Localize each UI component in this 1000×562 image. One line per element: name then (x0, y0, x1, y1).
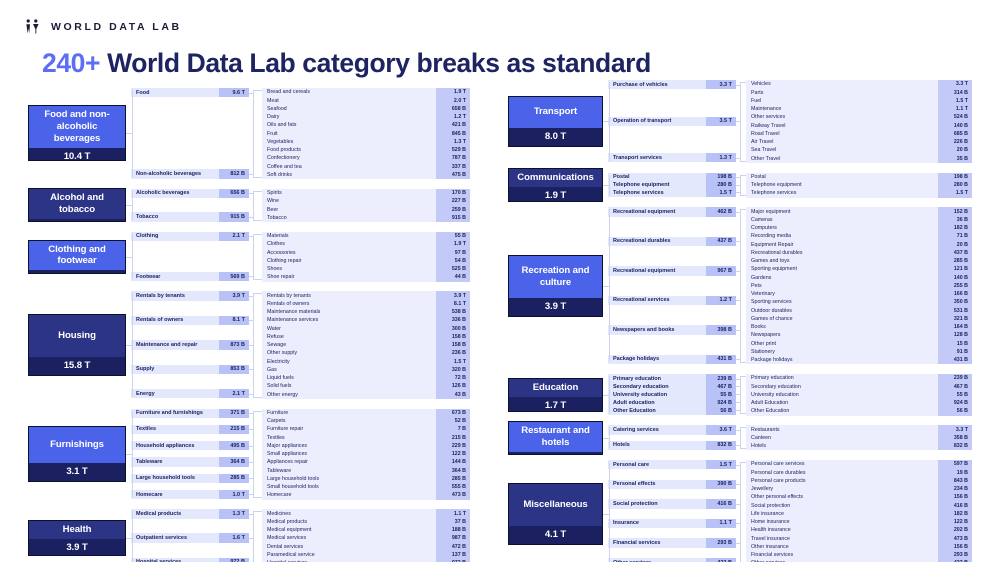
connector-line (740, 462, 746, 463)
connector-line (609, 82, 610, 161)
subcategory-value: 832 B (706, 441, 736, 450)
subcategory-label: Other services (608, 558, 706, 562)
subcategory-value: 873 B (219, 340, 249, 349)
leaf-value: 56 B (938, 407, 972, 416)
connector-line (253, 220, 262, 221)
connector-line (253, 293, 254, 396)
connector-line (253, 279, 262, 280)
connector-line (253, 191, 262, 192)
connector-line (249, 514, 253, 515)
connector-line (132, 234, 133, 280)
connector-line (249, 446, 253, 447)
category-group-value: 1.6 T (29, 219, 125, 222)
category-group-box[interactable]: Restaurant and hotels4.4 T (508, 421, 603, 455)
connector-line (253, 90, 254, 177)
connector-line (249, 369, 253, 370)
subcategory-label: Personal care (608, 460, 706, 469)
leaf-category-row: Other energy43 B (262, 390, 470, 399)
subcategory-value: 2.1 T (219, 232, 249, 241)
subcategory-value: 437 B (706, 237, 736, 246)
subcategory-row: Tobacco915 B (131, 212, 249, 221)
category-group-value: 3.9 T (509, 298, 602, 316)
subcategory-value: 293 B (706, 538, 736, 547)
connector-line (249, 296, 253, 297)
category-group-box[interactable]: Housing15.8 T (28, 314, 126, 376)
category-group-box[interactable]: Furnishings3.1 T (28, 426, 126, 482)
subcategory-value: 915 B (219, 212, 249, 221)
connector-line (253, 411, 262, 412)
connector-line (253, 511, 254, 562)
connector-line (740, 427, 741, 448)
subcategory-row: Social protection416 B (608, 499, 736, 508)
category-group-name: Education (509, 379, 602, 397)
infographic-page: WORLD DATA LAB 240+ World Data Lab categ… (0, 0, 1000, 562)
subcategory-label: Social protection (608, 499, 706, 508)
leaf-value: 43 B (436, 390, 470, 399)
category-group-value: 15.8 T (29, 357, 125, 375)
category-group-value: 1.9 T (509, 187, 602, 202)
connector-line (736, 330, 740, 331)
connector-line (736, 410, 740, 411)
connector-line (132, 191, 133, 220)
subcategory-label: Transport services (608, 153, 706, 162)
subcategory-value: 422 B (706, 558, 736, 562)
category-group-name: Restaurant and hotels (509, 422, 602, 452)
category-group-name: Furnishings (29, 427, 125, 463)
subcategory-label: Recreational equipment (608, 207, 706, 216)
category-group-box[interactable]: Transport8.0 T (508, 96, 603, 147)
subcategory-row: Transport services1.3 T (608, 153, 736, 162)
connector-line (249, 93, 253, 94)
leaf-label: Package holidays (746, 356, 938, 365)
category-group-box[interactable]: Clothing and footwear2.7 T (28, 240, 126, 274)
subcategory-label: Recreational durables (608, 237, 706, 246)
leaf-label: Hotels (746, 442, 938, 451)
connector-line (736, 394, 740, 395)
subcategory-row: Outpatient services1.6 T (131, 533, 249, 542)
subcategory-label: Non-alcoholic beverages (131, 169, 219, 178)
connector-line (249, 345, 253, 346)
brand-bar: WORLD DATA LAB (24, 18, 182, 35)
connector-line (609, 209, 610, 362)
subcategory-value: 9.6 T (219, 88, 249, 97)
subcategory-value: 462 B (706, 207, 736, 216)
connector-line (249, 236, 253, 237)
category-group-name: Recreation and culture (509, 256, 602, 298)
leaf-label: Other energy (262, 390, 436, 399)
subcategory-value: 3.5 T (706, 117, 736, 126)
subcategory-row: Textiles215 B (131, 425, 249, 434)
subcategory-label: Medical products (131, 509, 219, 518)
connector-line (249, 276, 253, 277)
subcategory-value: 656 B (219, 189, 249, 198)
subcategory-label: Insurance (608, 519, 706, 528)
subcategory-row: Recreational services1.2 T (608, 296, 736, 305)
category-group-name: Communications (509, 169, 602, 187)
category-group-value: 3.9 T (29, 539, 125, 556)
category-group-value: 10.4 T (29, 148, 125, 161)
leaf-category-row: Tobacco915 B (262, 214, 470, 223)
leaf-value: 475 B (436, 171, 470, 180)
category-group-box[interactable]: Health3.9 T (28, 520, 126, 556)
category-group-name: Health (29, 521, 125, 539)
category-group-box[interactable]: Food and non-alcoholic beverages10.4 T (28, 105, 126, 161)
connector-line (132, 293, 133, 396)
connector-line (253, 293, 262, 294)
subcategory-value: 285 B (219, 474, 249, 483)
connector-line (736, 465, 740, 466)
subcategory-row: Recreational durables437 B (608, 237, 736, 246)
subcategory-value: 1.5 T (706, 188, 736, 197)
subcategory-value: 1.2 T (706, 296, 736, 305)
subcategory-value: 364 B (219, 457, 249, 466)
subcategory-value: 1.6 T (219, 533, 249, 542)
connector-line (736, 504, 740, 505)
subcategory-value: 3.6 T (706, 425, 736, 434)
connector-line (253, 411, 254, 498)
subcategory-value: 569 B (219, 272, 249, 281)
connector-line (736, 386, 740, 387)
subcategory-label: Textiles (131, 425, 219, 434)
leaf-category-row: Package holidays431 B (746, 356, 972, 365)
connector-line (253, 397, 262, 398)
subcategory-label: Food (131, 88, 219, 97)
subcategory-row: Recreational equipment967 B (608, 266, 736, 275)
subcategory-label: Homecare (131, 490, 219, 499)
connector-line (740, 195, 746, 196)
connector-line (609, 462, 610, 562)
subcategory-label: Footwear (131, 272, 219, 281)
connector-line (249, 394, 253, 395)
connector-line (740, 462, 741, 562)
connector-line (736, 271, 740, 272)
subcategory-row: Medical products1.3 T (131, 509, 249, 518)
connector-line (740, 209, 741, 362)
subcategory-label: Household appliances (131, 441, 219, 450)
category-group-box[interactable]: Education1.7 T (508, 378, 603, 412)
connector-line (740, 82, 741, 161)
subcategory-label: Maintenance and repair (131, 340, 219, 349)
connector-line (249, 478, 253, 479)
connector-line (736, 241, 740, 242)
connector-line (736, 85, 740, 86)
subcategory-row: Supply853 B (131, 365, 249, 374)
connector-line (740, 413, 746, 414)
category-group-value: 4.1 T (509, 526, 602, 544)
leaf-label: Other Education (746, 407, 938, 416)
connector-line (253, 234, 262, 235)
subcategory-row: Insurance1.1 T (608, 519, 736, 528)
leaf-category-row: Soft drinks475 B (262, 171, 470, 180)
connector-line (249, 462, 253, 463)
connector-line (249, 494, 253, 495)
connector-line (740, 82, 746, 83)
subcategory-label: Financial services (608, 538, 706, 547)
connector-line (249, 413, 253, 414)
connector-line (740, 448, 746, 449)
subcategory-value: 371 B (219, 409, 249, 418)
page-title: 240+ World Data Lab category breaks as s… (42, 48, 651, 79)
connector-line (249, 193, 253, 194)
connector-line (740, 362, 746, 363)
subcategory-label: Alcoholic beverages (131, 189, 219, 198)
connector-line (740, 209, 746, 210)
connector-line (740, 376, 746, 377)
leaf-category-row: Hotels832 B (746, 442, 972, 451)
connector-line (740, 376, 741, 413)
subcategory-row: Personal effects390 B (608, 480, 736, 489)
connector-line (736, 402, 740, 403)
connector-line (609, 175, 610, 196)
leaf-value: 832 B (938, 442, 972, 451)
subcategory-value: 972 B (219, 558, 249, 562)
leaf-value: 44 B (436, 273, 470, 282)
subcategory-value: 1.1 T (706, 519, 736, 528)
connector-line (736, 121, 740, 122)
connector-line (609, 376, 610, 413)
connector-line (740, 175, 746, 176)
category-group-value: 2.7 T (29, 270, 125, 273)
connector-line (736, 359, 740, 360)
subcategory-label: Energy (131, 389, 219, 398)
leaf-category-row: Shoe repair44 B (262, 273, 470, 282)
subcategory-value: 431 B (706, 355, 736, 364)
leaf-label: Tobacco (262, 214, 436, 223)
subcategory-label: Tobacco (131, 212, 219, 221)
category-group-name: Clothing and footwear (29, 241, 125, 271)
connector-line (253, 511, 262, 512)
subcategory-row: Personal care1.5 T (608, 460, 736, 469)
connector-line (740, 161, 746, 162)
connector-line (609, 427, 610, 448)
subcategory-row: Other Education56 B (608, 406, 736, 415)
subcategory-value: 390 B (706, 480, 736, 489)
subcategory-label: Tableware (131, 457, 219, 466)
connector-line (736, 158, 740, 159)
subcategory-row: Maintenance and repair873 B (131, 340, 249, 349)
subcategory-value: 8.1 T (219, 316, 249, 325)
subcategory-row: Household appliances495 B (131, 441, 249, 450)
connector-line (736, 212, 740, 213)
connector-line (736, 445, 740, 446)
connector-line (736, 379, 740, 380)
category-group-name: Transport (509, 97, 602, 128)
connector-line (736, 300, 740, 301)
subcategory-value: 1.3 T (706, 153, 736, 162)
subcategory-row: Operation of transport3.5 T (608, 117, 736, 126)
subcategory-label: Hotels (608, 441, 706, 450)
brand-name: WORLD DATA LAB (51, 21, 182, 33)
title-text: World Data Lab category breaks as standa… (107, 48, 651, 78)
leaf-value: 35 B (938, 154, 972, 163)
connector-line (249, 320, 253, 321)
subcategory-label: Rentals by tenants (131, 291, 219, 300)
category-group-name: Miscellaneous (509, 484, 602, 526)
subcategory-label: Newspapers and books (608, 325, 706, 334)
subcategory-value: 56 B (706, 406, 736, 415)
connector-line (249, 217, 253, 218)
category-group-box[interactable]: Recreation and culture3.9 T (508, 255, 603, 317)
category-group-value: 8.0 T (509, 128, 602, 146)
subcategory-row: Tableware364 B (131, 457, 249, 466)
leaf-value: 431 B (938, 356, 972, 365)
connector-line (132, 511, 133, 562)
subcategory-value: 967 B (706, 266, 736, 275)
connector-line (740, 175, 741, 196)
leaf-value: 915 B (436, 214, 470, 223)
leaf-category-row: Other Education56 B (746, 407, 972, 416)
subcategory-row: Package holidays431 B (608, 355, 736, 364)
subcategory-row: Telephone services1.5 T (608, 188, 736, 197)
connector-line (736, 523, 740, 524)
subcategory-row: Financial services293 B (608, 538, 736, 547)
subcategory-row: Recreational equipment462 B (608, 207, 736, 216)
subcategory-row: Footwear569 B (131, 272, 249, 281)
subcategory-label: Rentals of owners (131, 316, 219, 325)
connector-line (736, 484, 740, 485)
subcategory-label: Recreational services (608, 296, 706, 305)
subcategory-label: Personal effects (608, 480, 706, 489)
connector-line (249, 174, 253, 175)
connector-line (736, 185, 740, 186)
subcategory-row: Rentals by tenants3.9 T (131, 291, 249, 300)
subcategory-label: Telephone services (608, 188, 706, 197)
subcategory-value: 1.5 T (706, 460, 736, 469)
leaf-value: 1.5 T (938, 189, 972, 198)
subcategory-row: Homecare1.0 T (131, 490, 249, 499)
subcategory-value: 495 B (219, 441, 249, 450)
subcategory-label: Operation of transport (608, 117, 706, 126)
connector-line (249, 538, 253, 539)
subcategory-label: Other Education (608, 406, 706, 415)
world-data-lab-logo-icon (24, 18, 41, 35)
connector-line (736, 192, 740, 193)
subcategory-row: Newspapers and books398 B (608, 325, 736, 334)
title-accent-number: 240+ (42, 48, 100, 78)
subcategory-label: Supply (131, 365, 219, 374)
subcategory-value: 215 B (219, 425, 249, 434)
leaf-label: Homecare (262, 491, 436, 500)
subcategory-label: Furniture and furnishings (131, 409, 219, 418)
subcategory-label: Outpatient services (131, 533, 219, 542)
connector-line (736, 543, 740, 544)
leaf-label: Other Travel (746, 154, 938, 163)
subcategory-row: Rentals of owners8.1 T (131, 316, 249, 325)
subcategory-row: Non-alcoholic beverages812 B (131, 169, 249, 178)
connector-line (253, 497, 262, 498)
connector-line (253, 177, 262, 178)
subcategory-label: Large household tools (131, 474, 219, 483)
connector-line (253, 90, 262, 91)
category-group-name: Food and non-alcoholic beverages (29, 106, 125, 148)
subcategory-label: Purchase of vehicles (608, 80, 706, 89)
connector-line (249, 429, 253, 430)
subcategory-value: 2.1 T (219, 389, 249, 398)
subcategory-row: Food9.6 T (131, 88, 249, 97)
connector-line (253, 234, 254, 280)
subcategory-value: 416 B (706, 499, 736, 508)
category-group-name: Alcohol and tobacco (29, 189, 125, 219)
connector-line (740, 427, 746, 428)
subcategory-value: 853 B (219, 365, 249, 374)
subcategory-label: Hospital services (131, 558, 219, 562)
category-group-box[interactable]: Alcohol and tobacco1.6 T (28, 188, 126, 222)
category-group-name: Housing (29, 315, 125, 357)
category-group-value: 3.1 T (29, 463, 125, 481)
subcategory-value: 3.3 T (706, 80, 736, 89)
leaf-category-row: Homecare473 B (262, 491, 470, 500)
category-group-value: 4.4 T (509, 452, 602, 455)
subcategory-label: Package holidays (608, 355, 706, 364)
leaf-label: Telephone services (746, 189, 938, 198)
subcategory-row: Clothing2.1 T (131, 232, 249, 241)
subcategory-row: Purchase of vehicles3.3 T (608, 80, 736, 89)
subcategory-row: Other services422 B (608, 558, 736, 562)
subcategory-row: Alcoholic beverages656 B (131, 189, 249, 198)
subcategory-value: 398 B (706, 325, 736, 334)
leaf-category-row: Other Travel35 B (746, 154, 972, 163)
subcategory-row: Large household tools285 B (131, 474, 249, 483)
category-group-value: 1.7 T (509, 397, 602, 412)
subcategory-label: Recreational equipment (608, 266, 706, 275)
leaf-value: 473 B (436, 491, 470, 500)
category-group-box[interactable]: Miscellaneous4.1 T (508, 483, 603, 545)
connector-line (132, 411, 133, 498)
connector-line (736, 430, 740, 431)
connector-line (736, 177, 740, 178)
subcategory-label: Clothing (131, 232, 219, 241)
subcategory-row: Furniture and furnishings371 B (131, 409, 249, 418)
subcategory-value: 3.9 T (219, 291, 249, 300)
subcategory-row: Hotels832 B (608, 441, 736, 450)
subcategory-value: 1.0 T (219, 490, 249, 499)
subcategory-label: Catering services (608, 425, 706, 434)
category-group-box[interactable]: Communications1.9 T (508, 168, 603, 202)
subcategory-row: Energy2.1 T (131, 389, 249, 398)
leaf-category-row: Telephone services1.5 T (746, 189, 972, 198)
leaf-label: Shoe repair (262, 273, 436, 282)
connector-line (253, 191, 254, 220)
leaf-label: Soft drinks (262, 171, 436, 180)
subcategory-value: 1.3 T (219, 509, 249, 518)
subcategory-value: 812 B (219, 169, 249, 178)
connector-line (132, 90, 133, 177)
subcategory-row: Hospital services972 B (131, 558, 249, 562)
subcategory-row: Catering services3.6 T (608, 425, 736, 434)
